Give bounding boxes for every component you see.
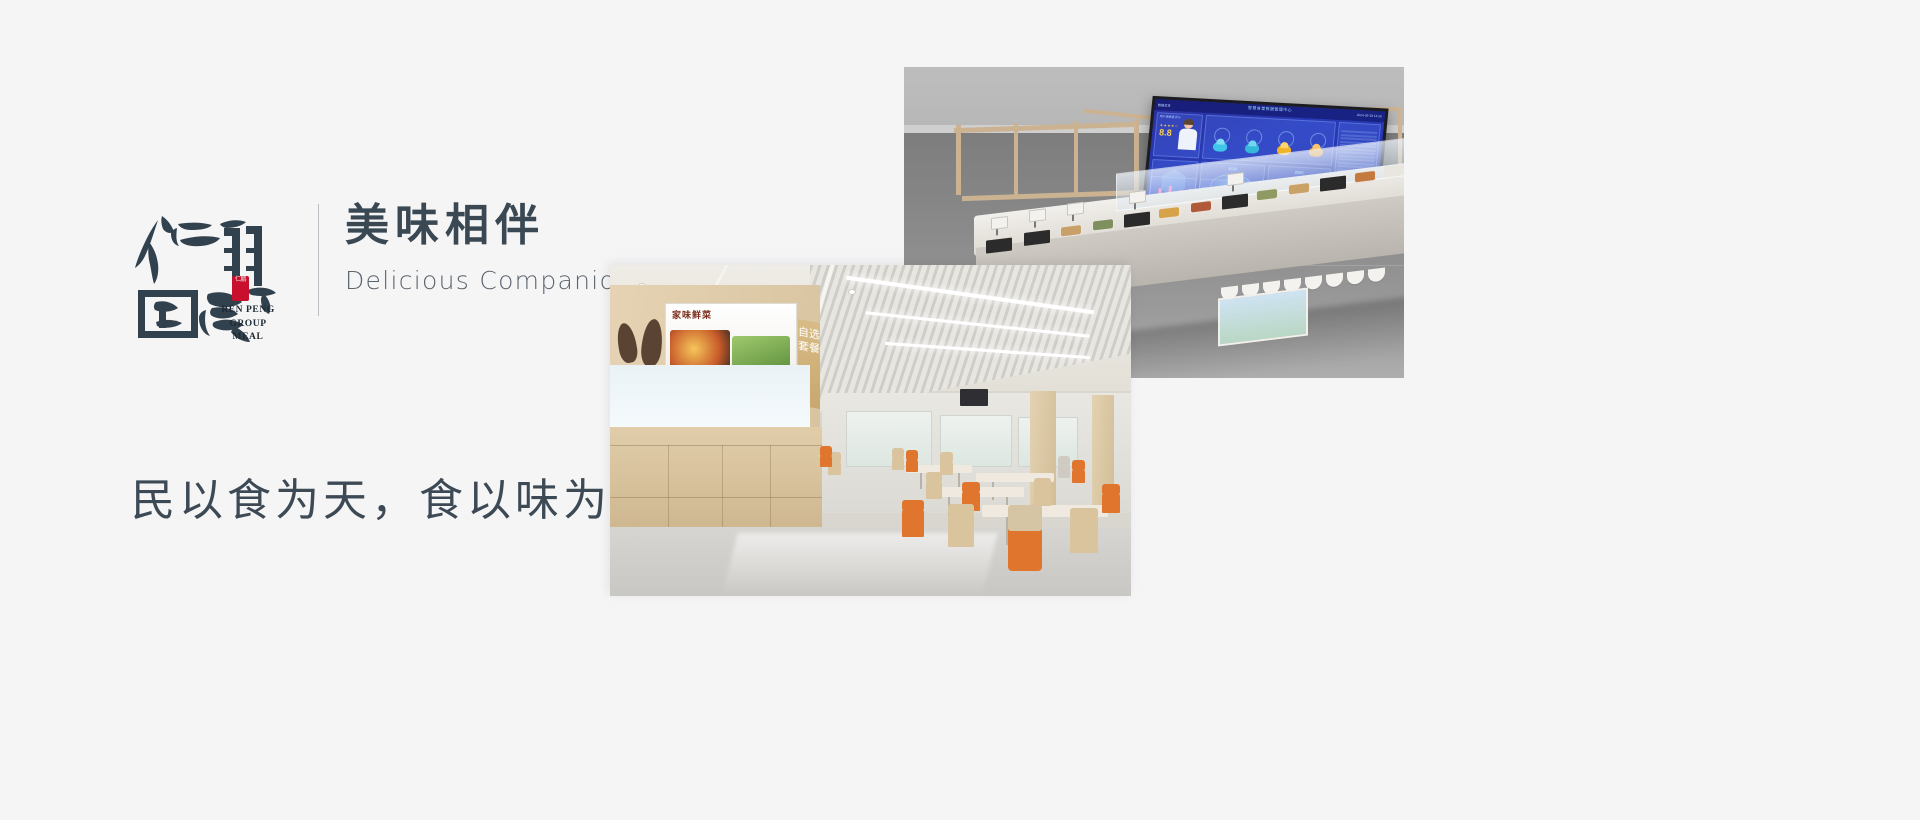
dining-chair-5 (940, 461, 953, 475)
canteen-interior-image: 家味鲜菜 自选套餐 (610, 265, 1131, 596)
back-wall-tv (960, 389, 988, 406)
counter-line-2 (610, 497, 822, 498)
headline-title-cn: 美味相伴 (345, 200, 690, 252)
dining-chair-15 (902, 509, 924, 537)
wall-leaf-decor-2 (640, 318, 665, 368)
dining-chair-14 (1070, 517, 1098, 553)
metric-icon-2 (1243, 129, 1262, 156)
stall-signboard-text: 家味鲜菜 (672, 308, 712, 321)
satisfaction-score: 8.8 (1159, 127, 1172, 138)
dining-chair-12 (948, 513, 974, 547)
brand-block: 仁鹏 REN PENG GROUP MEAL 美味相伴 Delicious Co… (128, 198, 690, 343)
brand-english-line-3: MEAL (216, 331, 280, 345)
vertical-stall-sign-text: 自选套餐 (798, 319, 820, 357)
counter-line-1 (610, 445, 822, 446)
interior-wood-counter (610, 427, 822, 535)
counter-vline-3 (770, 445, 771, 535)
dining-chair-8 (926, 481, 942, 499)
brand-seal-text: 仁鹏 (233, 277, 248, 300)
dining-chair-4 (906, 459, 918, 472)
brand-seal-stamp: 仁鹏 (232, 276, 249, 301)
satisfaction-card-label: 用户满意度评分 (1160, 114, 1181, 119)
dining-chair-2 (820, 455, 832, 467)
chef-avatar-illustration (1177, 119, 1200, 150)
counter-vline-1 (668, 445, 669, 535)
table-leg-1 (920, 473, 922, 489)
back-window-1 (846, 411, 932, 467)
dashboard-top-left-label: 数据总览 (1158, 102, 1171, 108)
interior-backlit-wall (610, 365, 810, 433)
brand-english-line-1: REN PENG (216, 304, 280, 318)
vertical-divider (318, 204, 319, 316)
wall-leaf-decor-1 (615, 322, 640, 365)
dining-chair-11 (1102, 493, 1120, 513)
ceiling-downlight-4 (848, 289, 856, 295)
dining-chair-6 (1058, 465, 1070, 478)
hero-banner: 仁鹏 REN PENG GROUP MEAL 美味相伴 Delicious Co… (0, 0, 1920, 820)
brand-english-lines: REN PENG GROUP MEAL (216, 304, 280, 345)
dining-chair-3 (892, 457, 904, 470)
brand-logo: 仁鹏 REN PENG GROUP MEAL (128, 198, 288, 343)
dining-chair-10 (1034, 487, 1051, 506)
metric-icon-1 (1211, 127, 1230, 154)
dashboard-satisfaction-card: 用户满意度评分 ★★★★☆ 8.8 (1153, 112, 1203, 158)
dining-chair-7 (1072, 469, 1085, 483)
slogan-text: 民以食为天，食以味为先 (131, 473, 659, 529)
dining-chair-13 (1008, 527, 1042, 571)
counter-vline-2 (722, 445, 723, 535)
brand-english-line-2: GROUP (216, 318, 280, 332)
